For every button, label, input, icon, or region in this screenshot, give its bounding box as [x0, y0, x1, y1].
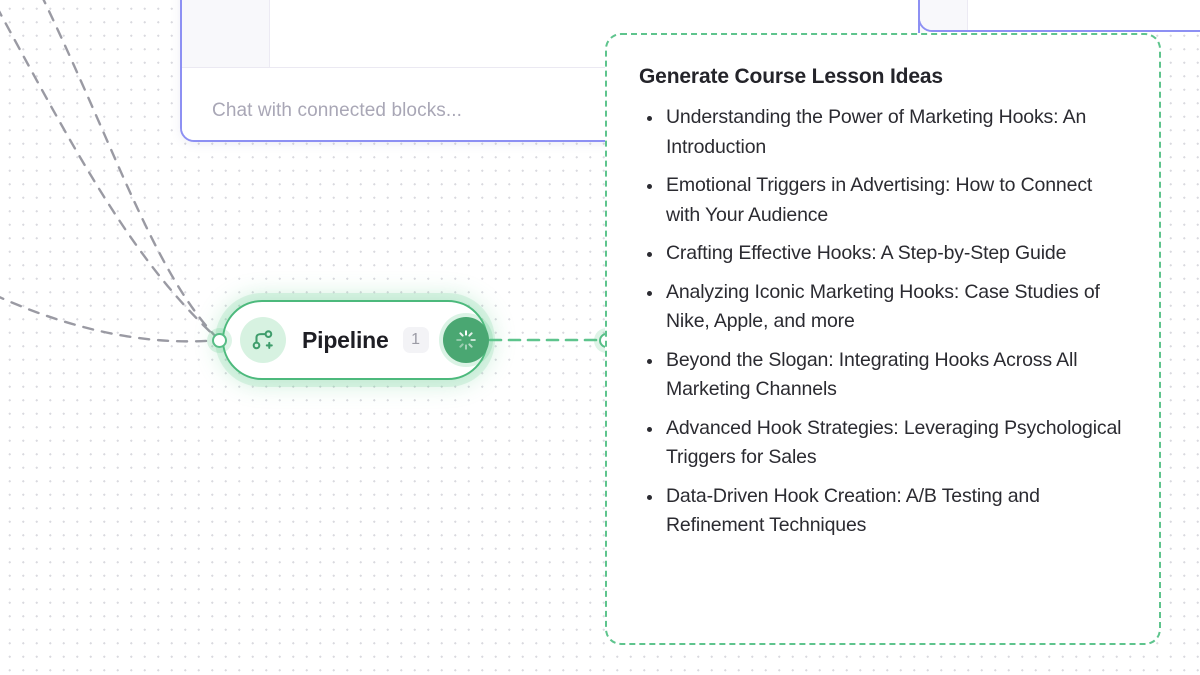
chat-input-placeholder: Chat with connected blocks...: [212, 100, 462, 122]
pipeline-node-badge: 1: [403, 327, 429, 353]
list-item: Emotional Triggers in Advertising: How t…: [639, 171, 1125, 230]
pipeline-node-title: Pipeline: [302, 327, 389, 354]
node-input-handle[interactable]: [212, 333, 227, 348]
incoming-edge-3: [0, 278, 219, 341]
pipeline-node[interactable]: Pipeline 1: [222, 300, 488, 380]
list-item: Crafting Effective Hooks: A Step-by-Step…: [639, 239, 1125, 269]
list-item: Beyond the Slogan: Integrating Hooks Acr…: [639, 346, 1125, 405]
node-canvas[interactable]: identify which ones made them stop/watch…: [0, 0, 1200, 675]
list-item: Data-Driven Hook Creation: A/B Testing a…: [639, 482, 1125, 541]
result-card-title: Generate Course Lesson Ideas: [639, 65, 1125, 89]
result-card[interactable]: Generate Course Lesson Ideas Understandi…: [605, 33, 1161, 645]
list-item: Advanced Hook Strategies: Leveraging Psy…: [639, 414, 1125, 473]
list-item: Analyzing Iconic Marketing Hooks: Case S…: [639, 278, 1125, 337]
git-branch-plus-icon: [240, 317, 286, 363]
loading-spinner-icon: [443, 317, 489, 363]
lesson-ideas-list: Understanding the Power of Marketing Hoo…: [639, 103, 1125, 541]
secondary-block-rail: [920, 0, 968, 30]
secondary-block[interactable]: [918, 0, 1200, 32]
chat-block-rail: [182, 0, 270, 67]
list-item: Understanding the Power of Marketing Hoo…: [639, 103, 1125, 162]
